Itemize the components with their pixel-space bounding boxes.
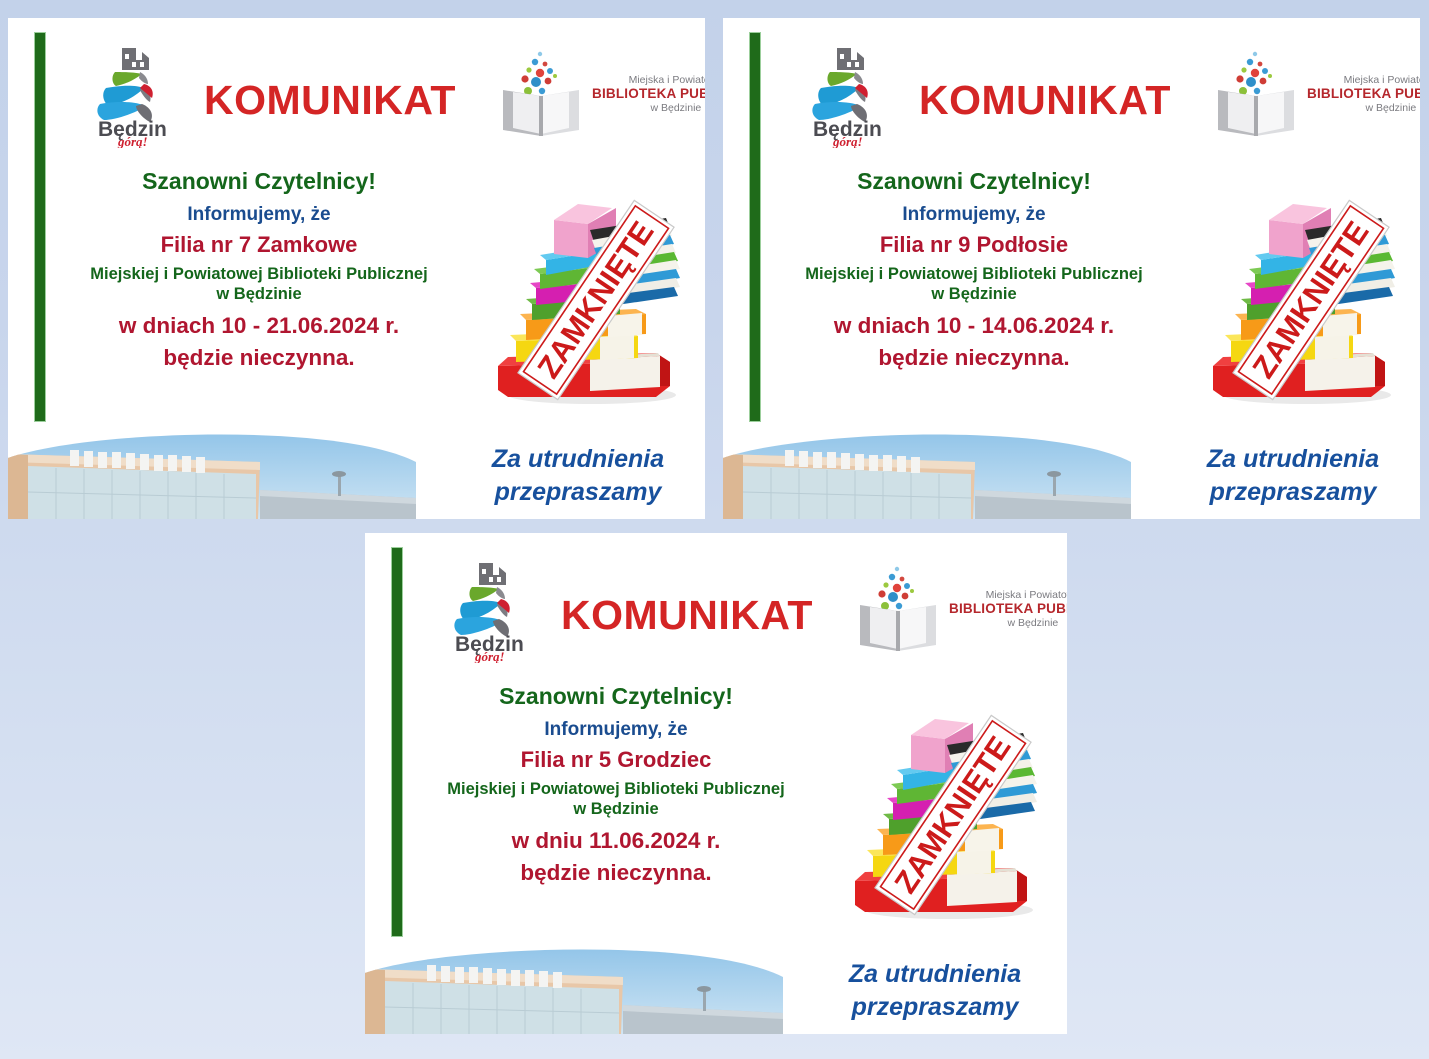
closing-text: będzie nieczynna. (60, 345, 458, 371)
bedzin-city-logo: Będzin górą! (82, 40, 170, 148)
library-logo-line1: Miejska i Powiatowa (1307, 74, 1420, 86)
closing-text: będzie nieczynna. (417, 860, 815, 886)
bedzin-city-logo: Będzin górą! (797, 40, 885, 148)
poster-filia-9-podlosie: Będzin górą! KOMUNIKAT (723, 18, 1420, 519)
library-logo-line3: w Będzinie (949, 617, 1067, 629)
announcement-body: Szanowni Czytelnicy! Informujemy, że Fil… (775, 168, 1173, 371)
library-logo: Miejska i Powiatowa BIBLIOTEKA PUBLICZNA… (850, 559, 1060, 659)
apology-line1: Za utrudnienia (1178, 443, 1408, 476)
closing-text: będzie nieczynna. (775, 345, 1173, 371)
closed-books-graphic: ZAMKNIĘTE (470, 190, 702, 412)
closed-books-graphic: ZAMKNIĘTE (827, 705, 1059, 927)
poster-collage: Będzin górą! KOMUNIKAT (0, 0, 1429, 1059)
green-accent-bar (749, 32, 761, 422)
branch-name: Filia nr 7 Zamkowe (60, 232, 458, 258)
library-building-photo (723, 428, 1131, 519)
library-logo-line1: Miejska i Powiatowa (949, 589, 1067, 601)
apology-text: Za utrudnienia przepraszamy (463, 443, 693, 509)
announcement-body: Szanowni Czytelnicy! Informujemy, że Fil… (60, 168, 458, 371)
institution-line2: w Będzinie (775, 285, 1173, 304)
branch-name: Filia nr 5 Grodziec (417, 747, 815, 773)
announcement-body: Szanowni Czytelnicy! Informujemy, że Fil… (417, 683, 815, 886)
library-logo: Miejska i Powiatowa BIBLIOTEKA PUBLICZNA… (1208, 44, 1418, 144)
library-building-photo (365, 943, 783, 1034)
svg-text:górą!: górą! (117, 134, 148, 148)
closure-dates: w dniu 11.06.2024 r. (417, 828, 815, 854)
greeting-text: Szanowni Czytelnicy! (775, 168, 1173, 195)
library-logo-line1: Miejska i Powiatowa (592, 74, 705, 86)
intro-text: Informujemy, że (60, 204, 458, 226)
institution-line1: Miejskiej i Powiatowej Biblioteki Public… (775, 264, 1173, 285)
green-accent-bar (34, 32, 46, 422)
institution-line1: Miejskiej i Powiatowej Biblioteki Public… (60, 264, 458, 285)
green-accent-bar (391, 547, 403, 937)
library-logo-text: Miejska i Powiatowa BIBLIOTEKA PUBLICZNA… (1307, 74, 1420, 115)
bedzin-logo-art: Będzin górą! (439, 555, 527, 663)
open-book-icon (1208, 46, 1304, 142)
institution-line1: Miejskiej i Powiatowej Biblioteki Public… (417, 779, 815, 800)
page-title: KOMUNIKAT (204, 77, 456, 124)
apology-line2: przepraszamy (463, 476, 693, 509)
intro-text: Informujemy, że (417, 719, 815, 741)
page-title: KOMUNIKAT (561, 592, 813, 639)
library-logo-line3: w Będzinie (1307, 102, 1420, 114)
library-logo-text: Miejska i Powiatowa BIBLIOTEKA PUBLICZNA… (949, 589, 1067, 630)
institution-line2: w Będzinie (60, 285, 458, 304)
bedzin-city-logo: Będzin górą! (439, 555, 527, 663)
apology-text: Za utrudnienia przepraszamy (1178, 443, 1408, 509)
page-title: KOMUNIKAT (919, 77, 1171, 124)
svg-text:górą!: górą! (474, 649, 505, 663)
library-building-photo (8, 428, 416, 519)
apology-text: Za utrudnienia przepraszamy (820, 958, 1050, 1024)
intro-text: Informujemy, że (775, 204, 1173, 226)
library-logo: Miejska i Powiatowa BIBLIOTEKA PUBLICZNA… (493, 44, 703, 144)
library-logo-line2: BIBLIOTEKA PUBLICZNA (949, 601, 1067, 617)
bedzin-logo-art: Będzin górą! (797, 40, 885, 148)
closed-books-graphic: ZAMKNIĘTE (1185, 190, 1417, 412)
closure-dates: w dniach 10 - 21.06.2024 r. (60, 313, 458, 339)
library-logo-line3: w Będzinie (592, 102, 705, 114)
apology-line1: Za utrudnienia (463, 443, 693, 476)
library-logo-line2: BIBLIOTEKA PUBLICZNA (592, 86, 705, 102)
library-logo-line2: BIBLIOTEKA PUBLICZNA (1307, 86, 1420, 102)
closure-dates: w dniach 10 - 14.06.2024 r. (775, 313, 1173, 339)
apology-line2: przepraszamy (1178, 476, 1408, 509)
poster-filia-5-grodziec: Będzin górą! KOMUNIKAT (365, 533, 1067, 1034)
open-book-icon (493, 46, 589, 142)
open-book-icon (850, 561, 946, 657)
apology-line2: przepraszamy (820, 991, 1050, 1024)
greeting-text: Szanowni Czytelnicy! (417, 683, 815, 710)
library-logo-text: Miejska i Powiatowa BIBLIOTEKA PUBLICZNA… (592, 74, 705, 115)
poster-filia-7-zamkowe: Będzin górą! KOMUNIKAT (8, 18, 705, 519)
branch-name: Filia nr 9 Podłosie (775, 232, 1173, 258)
institution-line2: w Będzinie (417, 800, 815, 819)
apology-line1: Za utrudnienia (820, 958, 1050, 991)
bedzin-logo-art: Będzin górą! (82, 40, 170, 148)
greeting-text: Szanowni Czytelnicy! (60, 168, 458, 195)
svg-text:górą!: górą! (832, 134, 863, 148)
